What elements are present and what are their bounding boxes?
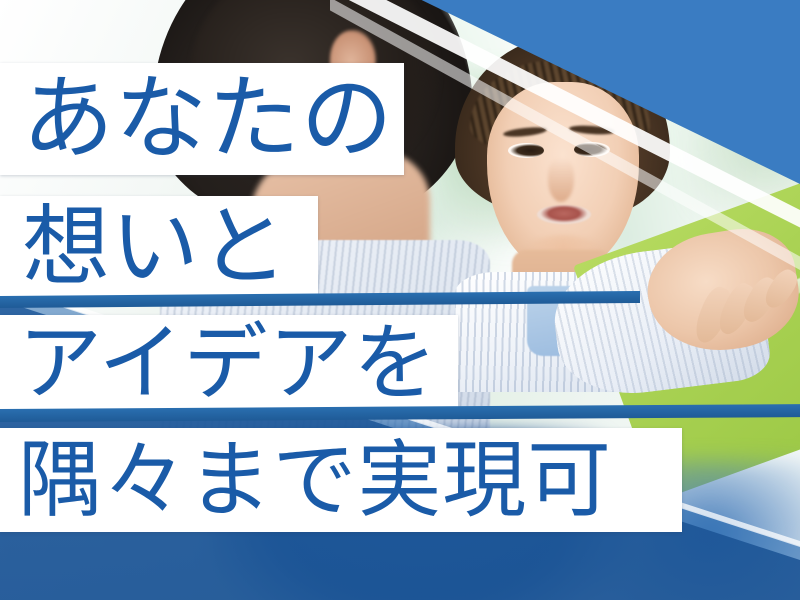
headline-band-4: 隅々まで実現可 [0, 428, 682, 532]
main-man-eye-left [508, 143, 544, 158]
main-man-nose [548, 158, 574, 202]
headline-line-4: 隅々まで実現可 [0, 438, 612, 522]
headline-band-2: 想いと [0, 196, 318, 298]
headline-band-1: あなたの [0, 63, 404, 175]
hero-banner: あなたの 想いと アイデアを 隅々まで実現可 [0, 0, 800, 600]
headline-line-2: 想いと [0, 203, 289, 291]
main-man-mouth [537, 205, 591, 224]
headline-line-1: あなたの [0, 73, 394, 165]
headline-line-3: アイデアを [0, 321, 438, 405]
headline-band-3: アイデアを [0, 315, 458, 411]
